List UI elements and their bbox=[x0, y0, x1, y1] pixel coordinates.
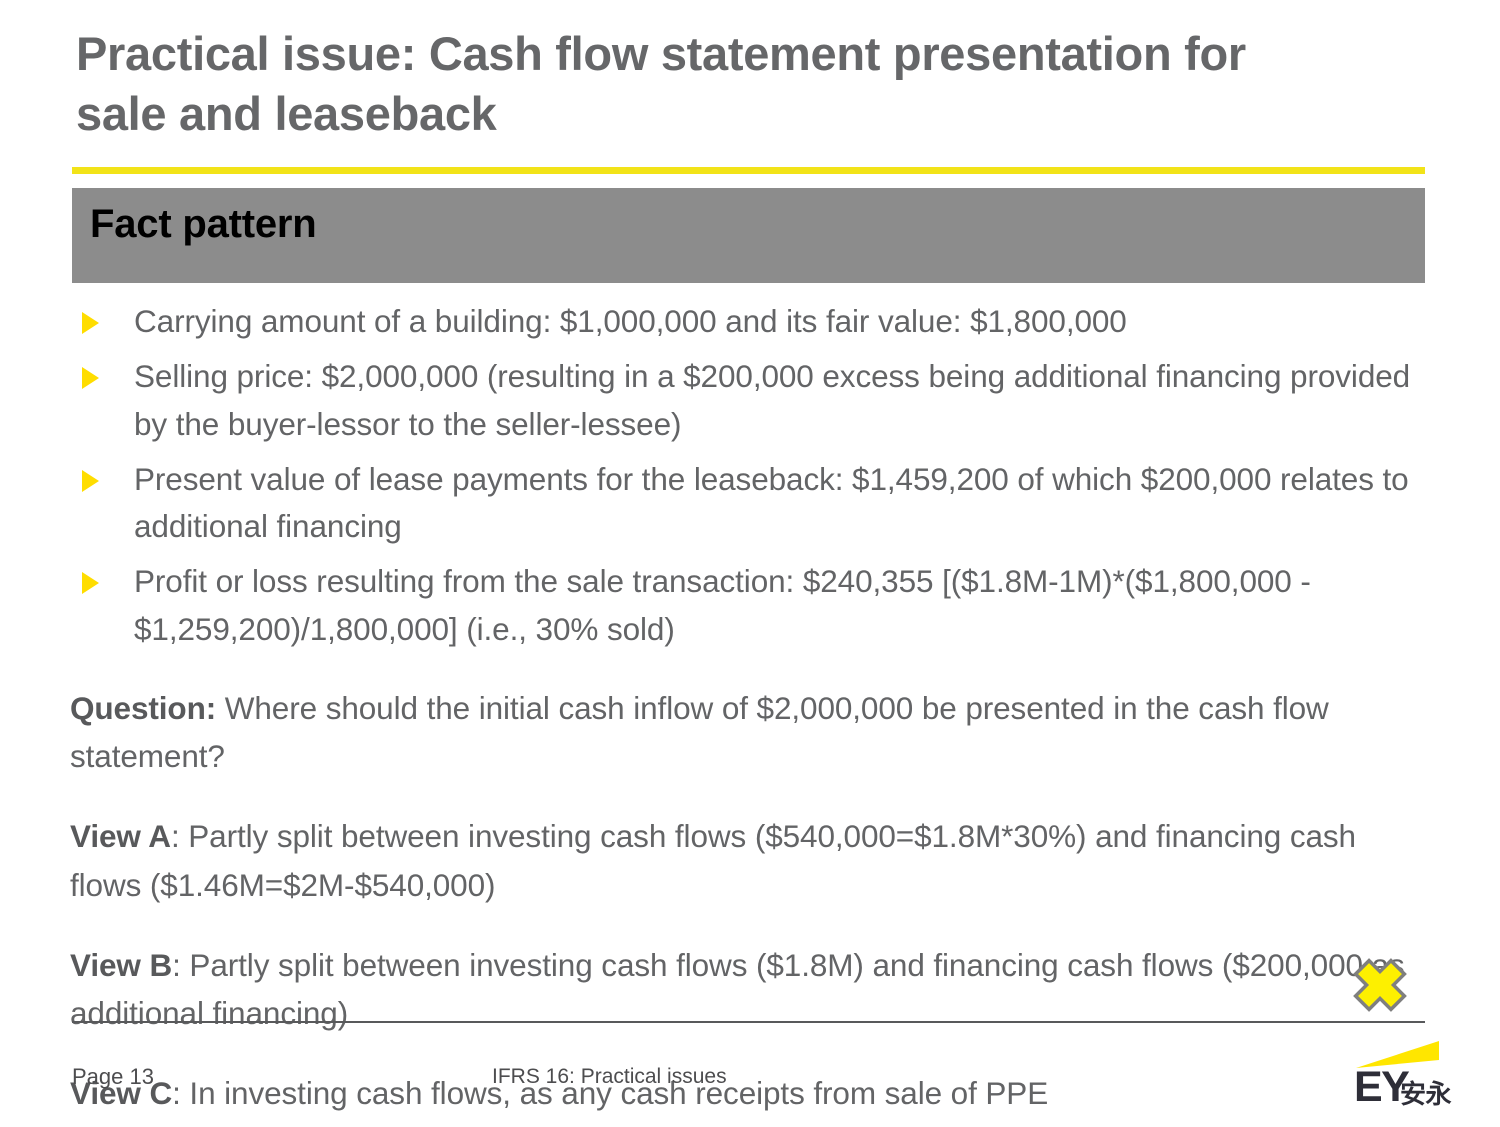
triangle-bullet-icon bbox=[82, 367, 99, 389]
question-and-views-block: Question: Where should the initial cash … bbox=[70, 652, 1435, 1127]
view-a-body-text: : Partly split between investing cash fl… bbox=[70, 818, 1356, 903]
question-lead-label: Question: bbox=[70, 690, 216, 726]
list-item-text: Present value of lease payments for the … bbox=[134, 456, 1432, 551]
section-header-band: Fact pattern bbox=[72, 188, 1425, 283]
fact-pattern-bullet-list: Carrying amount of a building: $1,000,00… bbox=[72, 298, 1432, 661]
triangle-bullet-icon bbox=[82, 312, 99, 334]
list-item-text: Carrying amount of a building: $1,000,00… bbox=[134, 298, 1432, 345]
footer-page-number: Page 13 bbox=[72, 1064, 154, 1090]
list-item: Selling price: $2,000,000 (resulting in … bbox=[72, 353, 1432, 448]
section-header-label: Fact pattern bbox=[90, 202, 317, 247]
triangle-bullet-icon bbox=[82, 572, 99, 594]
question-body-text: Where should the initial cash inflow of … bbox=[70, 690, 1329, 775]
title-accent-rule bbox=[72, 167, 1425, 174]
list-item: Carrying amount of a building: $1,000,00… bbox=[72, 298, 1432, 345]
view-b-body-text: : Partly split between investing cash fl… bbox=[70, 947, 1405, 1032]
footer-divider bbox=[72, 1021, 1425, 1023]
list-item-text: Selling price: $2,000,000 (resulting in … bbox=[134, 353, 1432, 448]
view-a-lead-label: View A bbox=[70, 818, 171, 854]
list-item: Present value of lease payments for the … bbox=[72, 456, 1432, 551]
view-c-paragraph: View C: In investing cash flows, as any … bbox=[70, 1069, 1435, 1118]
footer-deck-title: IFRS 16: Practical issues bbox=[492, 1065, 727, 1089]
triangle-bullet-icon bbox=[82, 470, 99, 492]
cross-mark-icon bbox=[1352, 957, 1408, 1013]
view-b-lead-label: View B bbox=[70, 947, 172, 983]
page-title: Practical issue: Cash flow statement pre… bbox=[76, 24, 1276, 144]
ey-chinese-text: 安永 bbox=[1400, 1082, 1451, 1108]
question-paragraph: Question: Where should the initial cash … bbox=[70, 684, 1435, 781]
ey-logo: EY 安永 bbox=[1338, 1038, 1470, 1114]
view-a-paragraph: View A: Partly split between investing c… bbox=[70, 812, 1435, 909]
list-item-text: Profit or loss resulting from the sale t… bbox=[134, 558, 1432, 653]
list-item: Profit or loss resulting from the sale t… bbox=[72, 558, 1432, 653]
